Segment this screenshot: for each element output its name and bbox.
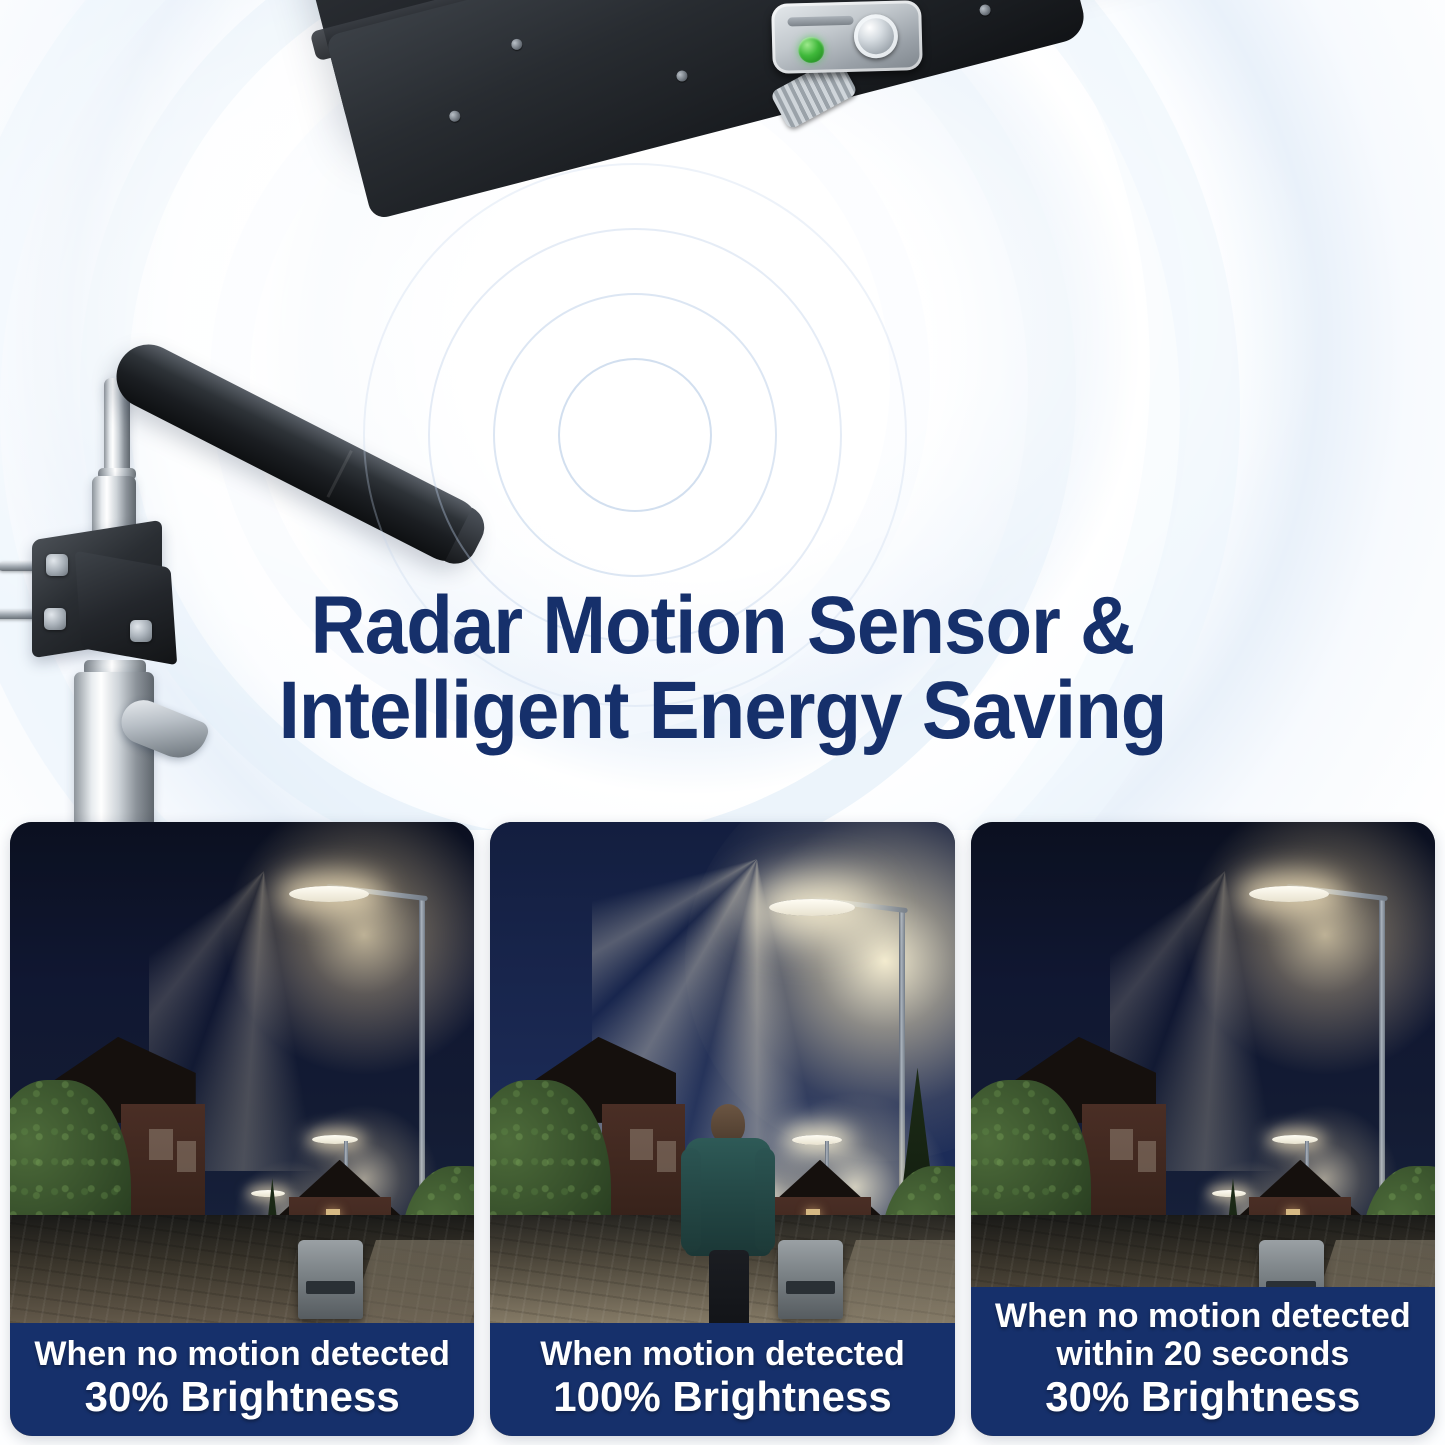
sensor-lens-icon — [853, 14, 898, 59]
person-arm-left — [681, 1148, 701, 1252]
house-window — [630, 1129, 653, 1160]
parked-van — [778, 1240, 843, 1320]
caption-line: When no motion detected — [979, 1297, 1427, 1335]
caption-line: 100% Brightness — [498, 1373, 946, 1420]
led-fixture-head — [276, 0, 1445, 263]
sensor-status-indicator-icon — [798, 37, 825, 64]
van-window — [306, 1281, 355, 1294]
van-window — [786, 1281, 835, 1294]
comparison-panel-timeout-dim[interactable]: When no motion detected within 20 second… — [971, 822, 1435, 1436]
comparison-panel-row: When no motion detected 30% Brightness — [10, 822, 1435, 1436]
comparison-panel-no-motion[interactable]: When no motion detected 30% Brightness — [10, 822, 474, 1436]
fixture-body-underside — [325, 0, 1089, 221]
caption-line: 30% Brightness — [18, 1373, 466, 1420]
caption-line: When motion detected — [498, 1335, 946, 1373]
page-title: Radar Motion Sensor & Intelligent Energy… — [51, 583, 1395, 754]
house-window — [177, 1141, 196, 1172]
bracket-bolt-1 — [46, 554, 68, 576]
house-window — [1110, 1129, 1133, 1160]
house-window — [149, 1129, 172, 1160]
radar-motion-sensor-module — [771, 0, 923, 74]
marketing-image-stage: Radar Motion Sensor & Intelligent Energy… — [0, 0, 1445, 1445]
headline-line-2: Intelligent Energy Saving — [51, 668, 1395, 753]
panel-caption: When motion detected 100% Brightness — [490, 1323, 954, 1436]
parked-van — [298, 1240, 363, 1320]
sensor-vent-slot — [787, 16, 853, 27]
arm-seam — [326, 450, 352, 498]
headline-line-1: Radar Motion Sensor & — [51, 583, 1395, 668]
radar-wave-1 — [558, 358, 712, 512]
caption-line: within 20 seconds — [979, 1335, 1427, 1373]
product-photo-street-light — [0, 0, 1445, 520]
street-lamp-head-main — [769, 899, 855, 916]
caption-line: When no motion detected — [18, 1335, 466, 1373]
panel-caption: When no motion detected 30% Brightness — [10, 1323, 474, 1436]
panel-caption: When no motion detected within 20 second… — [971, 1287, 1435, 1436]
person-arm-right — [755, 1148, 775, 1252]
house-window — [1138, 1141, 1157, 1172]
house-window — [657, 1141, 676, 1172]
comparison-panel-motion-detected[interactable]: When motion detected 100% Brightness — [490, 822, 954, 1436]
caption-line: 30% Brightness — [979, 1373, 1427, 1420]
